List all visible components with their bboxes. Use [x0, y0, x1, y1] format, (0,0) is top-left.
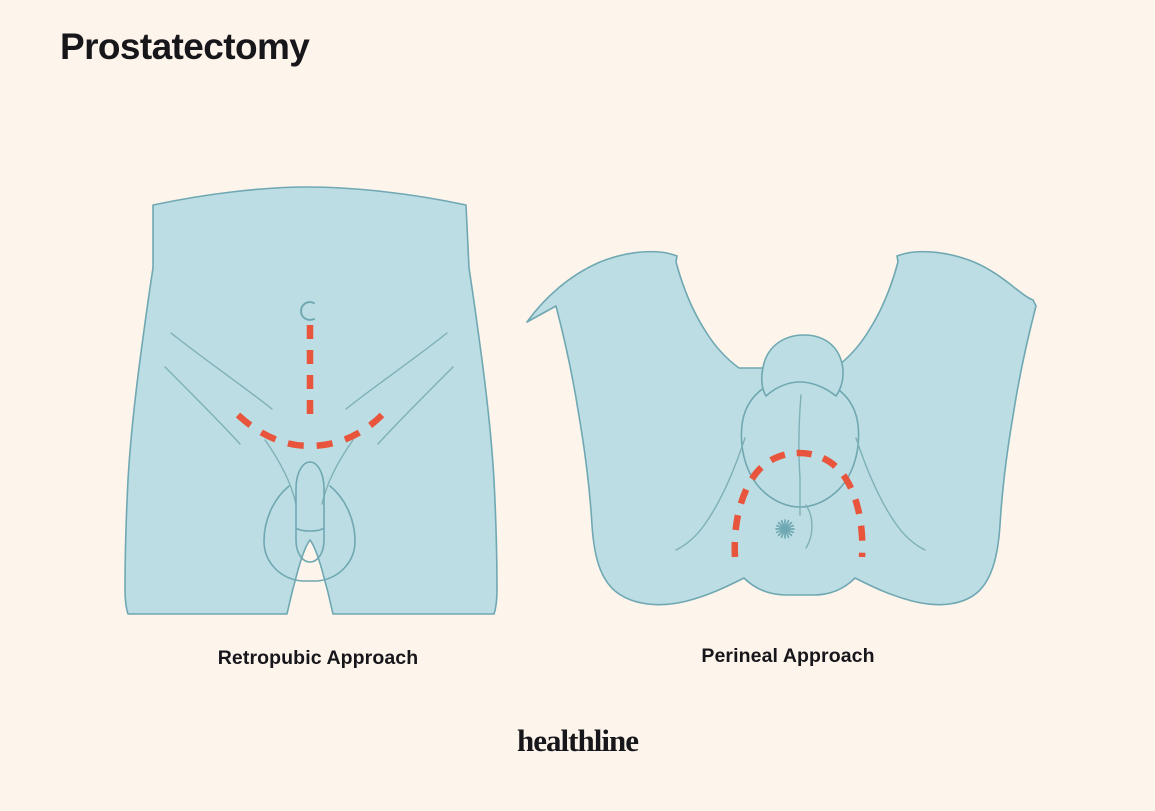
medical-illustration — [0, 0, 1155, 811]
caption-perineal-approach: Perineal Approach — [500, 645, 1076, 668]
healthline-logo: healthline — [0, 723, 1155, 759]
figure-perineal — [527, 252, 1036, 605]
infographic-canvas: Prostatectomy — [0, 0, 1155, 811]
figure-retropubic — [125, 187, 497, 614]
anus-icon — [776, 520, 794, 538]
